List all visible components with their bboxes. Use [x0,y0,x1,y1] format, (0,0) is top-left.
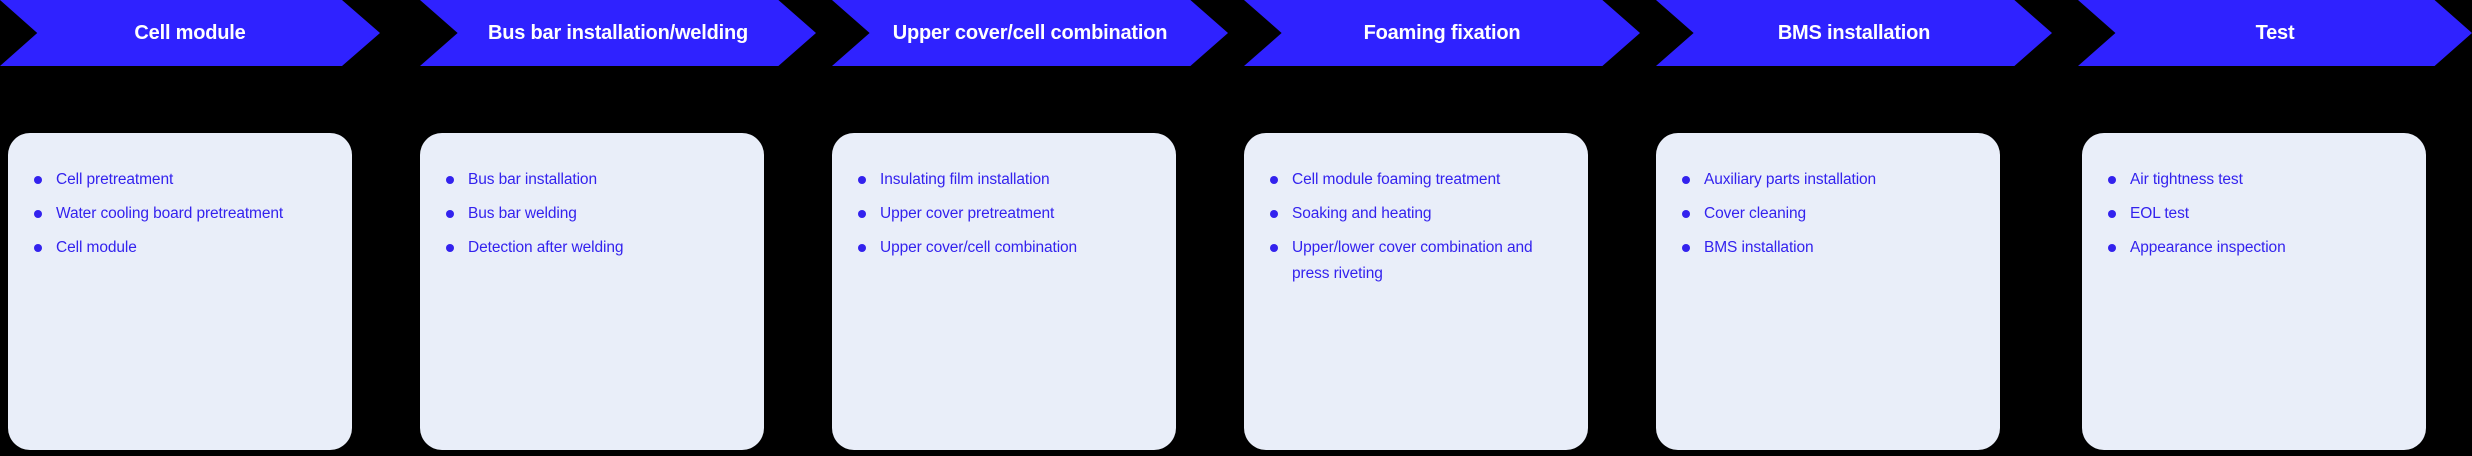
process-flow-diagram: Cell moduleCell pretreatmentWater coolin… [0,0,2472,456]
bullet-icon [446,210,454,218]
list-item-label: Cell pretreatment [56,171,173,188]
chevron-arrow-shape: Cell module [0,0,380,66]
list-item-label: EOL test [2130,205,2189,222]
list-item: Cell module foaming treatment [1270,167,1562,193]
list-item: EOL test [2108,201,2400,227]
stage-detail-card: Insulating film installationUpper cover … [832,133,1176,450]
bullet-icon [858,210,866,218]
chevron-arrow-shape: Bus bar installation/welding [420,0,816,66]
list-item: Upper cover/cell combination [858,235,1150,261]
stage-header-chevron[interactable]: Cell module [0,0,412,66]
list-item-label: Insulating film installation [880,171,1050,188]
chevron-arrow-shape: BMS installation [1656,0,2052,66]
process-stage: Bus bar installation/weldingBus bar inst… [412,0,824,456]
list-item-label: Air tightness test [2130,171,2243,188]
list-item: Auxiliary parts installation [1682,167,1974,193]
bullet-icon [1270,244,1278,252]
process-stage: Cell moduleCell pretreatmentWater coolin… [0,0,412,456]
list-item-label: Cell module [56,239,137,256]
stage-task-list: Air tightness testEOL testAppearance ins… [2108,167,2400,261]
bullet-icon [446,176,454,184]
process-stage: TestAir tightness testEOL testAppearance… [2060,0,2472,456]
list-item-label: Upper/lower cover combination and press … [1292,239,1533,282]
bullet-icon [2108,210,2116,218]
bullet-icon [1270,210,1278,218]
stage-title: Cell module [88,20,291,46]
process-stage: Upper cover/cell combinationInsulating f… [824,0,1236,456]
list-item: Water cooling board pretreatment [34,201,326,227]
list-item: Bus bar welding [446,201,738,227]
stage-task-list: Auxiliary parts installationCover cleani… [1682,167,1974,261]
list-item: Appearance inspection [2108,235,2400,261]
bullet-icon [1270,176,1278,184]
stage-task-list: Cell module foaming treatmentSoaking and… [1270,167,1562,287]
stage-detail-card: Bus bar installationBus bar weldingDetec… [420,133,764,450]
chevron-arrow-shape: Test [2078,0,2472,66]
bullet-icon [34,244,42,252]
bullet-icon [1682,210,1690,218]
bullet-icon [446,244,454,252]
list-item: Soaking and heating [1270,201,1562,227]
list-item: Upper/lower cover combination and press … [1270,235,1562,287]
list-item-label: Cell module foaming treatment [1292,171,1500,188]
stage-task-list: Cell pretreatmentWater cooling board pre… [34,167,326,261]
stage-detail-card: Cell module foaming treatmentSoaking and… [1244,133,1588,450]
stage-title: Bus bar installation/welding [442,20,794,46]
chevron-arrow-shape: Upper cover/cell combination [832,0,1228,66]
process-stage: BMS installationAuxiliary parts installa… [1648,0,2060,456]
stage-title: Upper cover/cell combination [847,20,1213,46]
stage-title: Foaming fixation [1318,20,1567,46]
list-item-label: Detection after welding [468,239,623,256]
stage-header-chevron[interactable]: BMS installation [1648,0,2060,66]
stage-header-chevron[interactable]: Bus bar installation/welding [412,0,824,66]
list-item: Bus bar installation [446,167,738,193]
stage-task-list: Insulating film installationUpper cover … [858,167,1150,261]
list-item-label: Water cooling board pretreatment [56,205,283,222]
list-item-label: Bus bar welding [468,205,577,222]
list-item-label: Upper cover/cell combination [880,239,1077,256]
stage-header-chevron[interactable]: Test [2060,0,2472,66]
stage-header-chevron[interactable]: Foaming fixation [1236,0,1648,66]
list-item-label: Bus bar installation [468,171,597,188]
list-item-label: Appearance inspection [2130,239,2286,256]
bullet-icon [2108,244,2116,252]
bullet-icon [34,210,42,218]
bullet-icon [34,176,42,184]
stage-title: BMS installation [1732,20,1976,46]
stage-header-chevron[interactable]: Upper cover/cell combination [824,0,1236,66]
list-item: Cover cleaning [1682,201,1974,227]
list-item: Air tightness test [2108,167,2400,193]
list-item-label: Cover cleaning [1704,205,1806,222]
bullet-icon [858,244,866,252]
list-item: Detection after welding [446,235,738,261]
stage-detail-card: Auxiliary parts installationCover cleani… [1656,133,2000,450]
list-item: Insulating film installation [858,167,1150,193]
bullet-icon [2108,176,2116,184]
bullet-icon [1682,244,1690,252]
list-item: Upper cover pretreatment [858,201,1150,227]
list-item: Cell module [34,235,326,261]
stage-title: Test [2210,20,2341,46]
list-item-label: Auxiliary parts installation [1704,171,1876,188]
chevron-arrow-shape: Foaming fixation [1244,0,1640,66]
bullet-icon [858,176,866,184]
list-item-label: BMS installation [1704,239,1814,256]
list-item: BMS installation [1682,235,1974,261]
stage-task-list: Bus bar installationBus bar weldingDetec… [446,167,738,261]
stage-detail-card: Cell pretreatmentWater cooling board pre… [8,133,352,450]
bullet-icon [1682,176,1690,184]
stage-detail-card: Air tightness testEOL testAppearance ins… [2082,133,2426,450]
list-item: Cell pretreatment [34,167,326,193]
list-item-label: Soaking and heating [1292,205,1431,222]
process-stage: Foaming fixationCell module foaming trea… [1236,0,1648,456]
list-item-label: Upper cover pretreatment [880,205,1054,222]
